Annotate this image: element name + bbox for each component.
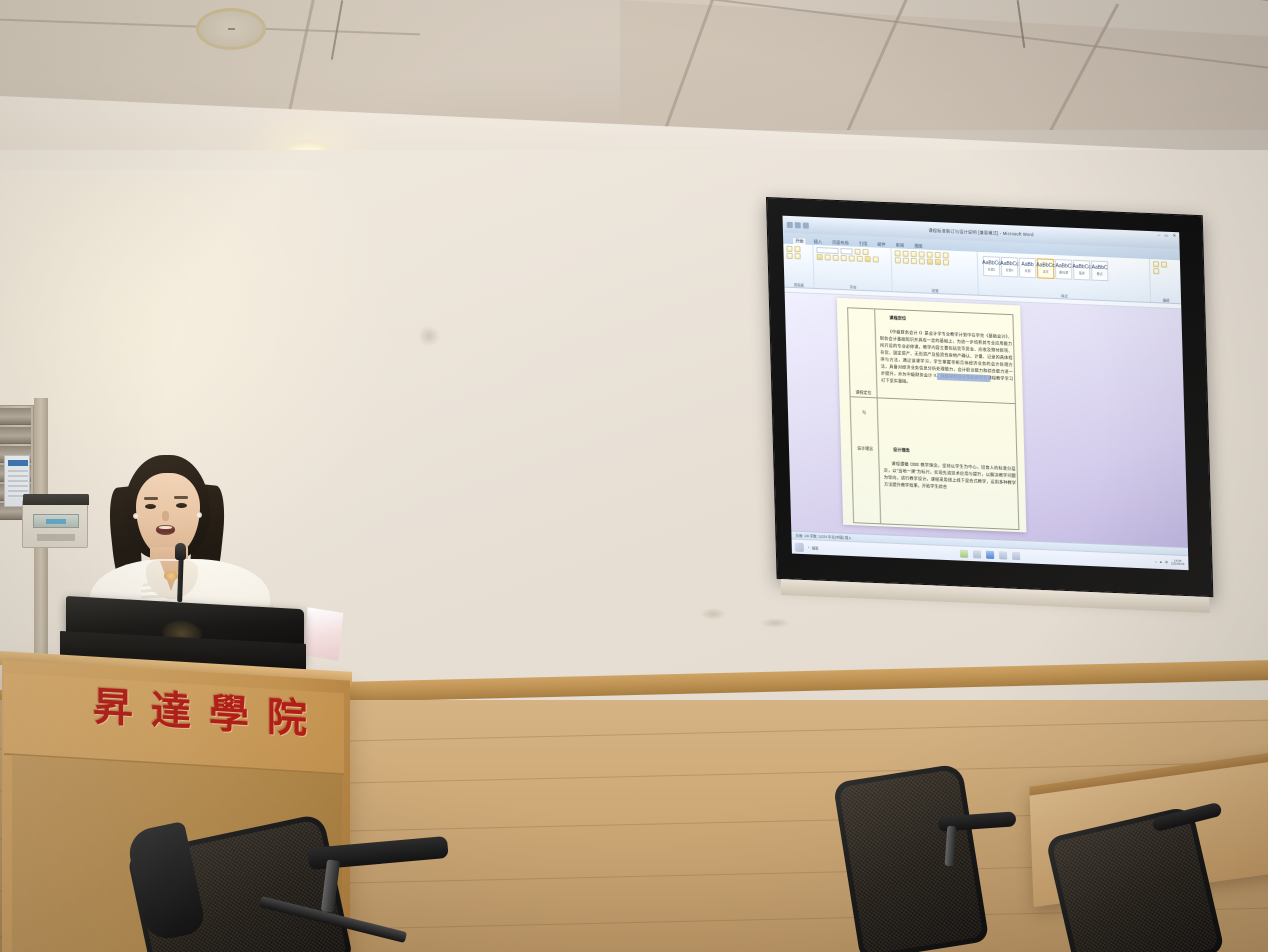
style-sample: AaBbC [1092, 266, 1108, 272]
style-sample: AaBbC [1056, 264, 1072, 270]
font-name-select[interactable] [816, 247, 838, 254]
style-chip[interactable]: AaBbC副标题 [1055, 259, 1073, 280]
format-painter-icon[interactable] [795, 253, 801, 259]
system-tray[interactable]: ◑ ▰ 中 14:06 2023/6/15 [1155, 558, 1185, 566]
align-center-icon[interactable] [903, 258, 909, 264]
paste-icon[interactable] [786, 246, 792, 252]
taskbar-search[interactable]: ⌕ 搜索 [808, 545, 819, 550]
style-sample: AaBb [1021, 263, 1033, 269]
start-button-icon[interactable] [795, 542, 804, 551]
eye-right [176, 503, 187, 508]
italic-icon[interactable] [825, 254, 831, 260]
bullets-icon[interactable] [895, 250, 901, 256]
subscript-icon[interactable] [849, 255, 855, 261]
wall-mark [418, 325, 440, 347]
venue-sign-char: 昇 [93, 674, 135, 734]
minimize-icon[interactable]: – [1158, 232, 1161, 238]
taskbar-clock[interactable]: 14:06 2023/6/15 [1171, 559, 1185, 566]
network-icon[interactable]: ▰ [1160, 560, 1162, 564]
document-paragraph-2: 课程遵循 OBE 教学理念，坚持以学生为中心，培育人的标准分层次，以“当地一建”… [883, 460, 1016, 494]
ime-icon[interactable]: 中 [1165, 560, 1168, 564]
earring-left [133, 513, 139, 519]
app-icon[interactable] [1012, 552, 1020, 560]
style-sample: AaBbCc [1072, 265, 1091, 271]
bold-icon[interactable] [817, 254, 823, 260]
eye-left [145, 504, 156, 509]
search-icon: ⌕ [808, 545, 810, 549]
font-color-icon[interactable] [873, 256, 879, 262]
chair-right-a[interactable] [846, 772, 1026, 952]
document-canvas[interactable]: 课程定位 与 设计理念 课程定位 《中级财务会计 I》是会计学专业教学计划中在学… [785, 293, 1188, 548]
ceiling-speaker-icon [196, 8, 266, 50]
projection-screen: 课程标准制订与设计说明 [兼容模式] - Microsoft Word – ▭ … [766, 197, 1213, 597]
select-icon[interactable] [1153, 268, 1159, 274]
text-highlight-icon[interactable] [865, 256, 871, 262]
microphone-icon [175, 543, 186, 560]
close-icon[interactable]: ✕ [1172, 233, 1176, 239]
shrink-font-icon[interactable] [862, 249, 868, 255]
papers-on-lectern [303, 607, 344, 660]
justify-icon[interactable] [919, 258, 925, 264]
style-sample: AaBbCc [1036, 263, 1055, 269]
align-left-icon[interactable] [895, 257, 901, 263]
style-sample: AaBbCc [1000, 262, 1019, 268]
document-page[interactable]: 课程定位 与 设计理念 课程定位 《中级财务会计 I》是会计学专业教学计划中在学… [837, 298, 1027, 533]
style-name: 标题1 [988, 267, 996, 271]
mouth [156, 525, 175, 535]
superscript-icon[interactable] [857, 256, 863, 262]
style-name: 正文 [1043, 269, 1049, 273]
document-heading-2: 设计理念 [893, 446, 910, 454]
style-chip[interactable]: AaBbCc强调 [1073, 260, 1091, 281]
borders-icon[interactable] [943, 259, 949, 265]
style-name: 标题2 [1006, 268, 1014, 272]
word-application-window: 课程标准制订与设计说明 [兼容模式] - Microsoft Word – ▭ … [783, 216, 1189, 570]
eyebrow-right [174, 496, 188, 499]
necklace-pendant [164, 571, 178, 581]
venue-sign-char: 學 [209, 681, 251, 741]
style-name: 标题 [1025, 269, 1031, 273]
window-controls[interactable]: – ▭ ✕ [1158, 232, 1177, 239]
eyebrow-left [144, 497, 158, 500]
underline-icon[interactable] [833, 255, 839, 261]
style-chip[interactable]: AaBbCc标题2 [1001, 257, 1019, 278]
ribbon-group-paragraph[interactable]: 段落 [891, 248, 978, 295]
line-spacing-icon[interactable] [927, 259, 933, 265]
font-size-select[interactable] [840, 248, 852, 255]
projected-image: 课程标准制订与设计说明 [兼容模式] - Microsoft Word – ▭ … [783, 216, 1189, 570]
venue-sign-char: 達 [151, 677, 193, 737]
find-icon[interactable] [1153, 261, 1159, 267]
strikethrough-icon[interactable] [841, 255, 847, 261]
style-gallery[interactable]: AaBbCc标题1 AaBbCc标题2 AaBb标题 AaBbCc正文 AaBb… [981, 254, 1147, 285]
chair-right-b[interactable] [1060, 820, 1250, 952]
chair-mesh [1051, 811, 1219, 952]
clock-date: 2023/6/15 [1171, 561, 1184, 566]
sort-icon[interactable] [935, 252, 941, 258]
chair-mesh [838, 769, 983, 952]
show-marks-icon[interactable] [943, 252, 949, 258]
venue-sign-char: 院 [267, 684, 309, 744]
style-chip[interactable]: AaBbC要点 [1091, 261, 1109, 282]
explorer-icon[interactable] [960, 550, 968, 558]
volume-icon[interactable]: ◑ [1155, 560, 1157, 564]
style-name: 强调 [1079, 271, 1085, 275]
ribbon-group-font[interactable]: 字体 [813, 245, 892, 291]
copy-icon[interactable] [787, 253, 793, 259]
ribbon-group-label: 剪贴板 [784, 282, 813, 288]
browser-icon[interactable] [999, 551, 1007, 559]
ceiling-tiles-right [620, 0, 1268, 130]
style-chip[interactable]: AaBb标题 [1019, 258, 1037, 279]
style-sample: AaBbCc [982, 261, 1001, 267]
align-right-icon[interactable] [911, 258, 917, 264]
numbering-icon[interactable] [903, 251, 909, 257]
earring-right [196, 512, 202, 518]
ribbon-group-editing[interactable]: 编辑 [1150, 259, 1181, 303]
cut-icon[interactable] [794, 246, 800, 252]
nose [162, 511, 169, 521]
multilevel-list-icon[interactable] [911, 251, 917, 257]
style-name: 副标题 [1059, 270, 1068, 274]
shading-icon[interactable] [935, 259, 941, 265]
ribbon-group-styles[interactable]: AaBbCc标题1 AaBbCc标题2 AaBb标题 AaBbCc正文 AaBb… [978, 252, 1151, 302]
increase-indent-icon[interactable] [927, 252, 933, 258]
word-icon[interactable] [986, 551, 994, 559]
maximize-icon[interactable]: ▭ [1164, 233, 1168, 239]
search-placeholder: 搜索 [812, 545, 819, 550]
ribbon-group-label: 编辑 [1151, 297, 1181, 303]
lecture-hall-photo: 课程标准制订与设计说明 [兼容模式] - Microsoft Word – ▭ … [0, 0, 1268, 952]
ribbon-group-clipboard[interactable]: 剪贴板 [783, 244, 814, 288]
grow-font-icon[interactable] [854, 249, 860, 255]
chair-front-left[interactable] [140, 826, 450, 952]
style-chip[interactable]: AaBbCc标题1 [983, 256, 1001, 277]
taskbar-pinned-apps[interactable] [960, 550, 1020, 561]
wall-mark [700, 608, 726, 620]
decrease-indent-icon[interactable] [919, 251, 925, 257]
folder-icon[interactable] [973, 550, 981, 558]
replace-icon[interactable] [1161, 261, 1167, 267]
style-name: 要点 [1097, 272, 1103, 276]
document-heading-1: 课程定位 [889, 314, 906, 322]
wall-mark [760, 618, 790, 628]
style-chip-selected[interactable]: AaBbCc正文 [1037, 258, 1055, 279]
